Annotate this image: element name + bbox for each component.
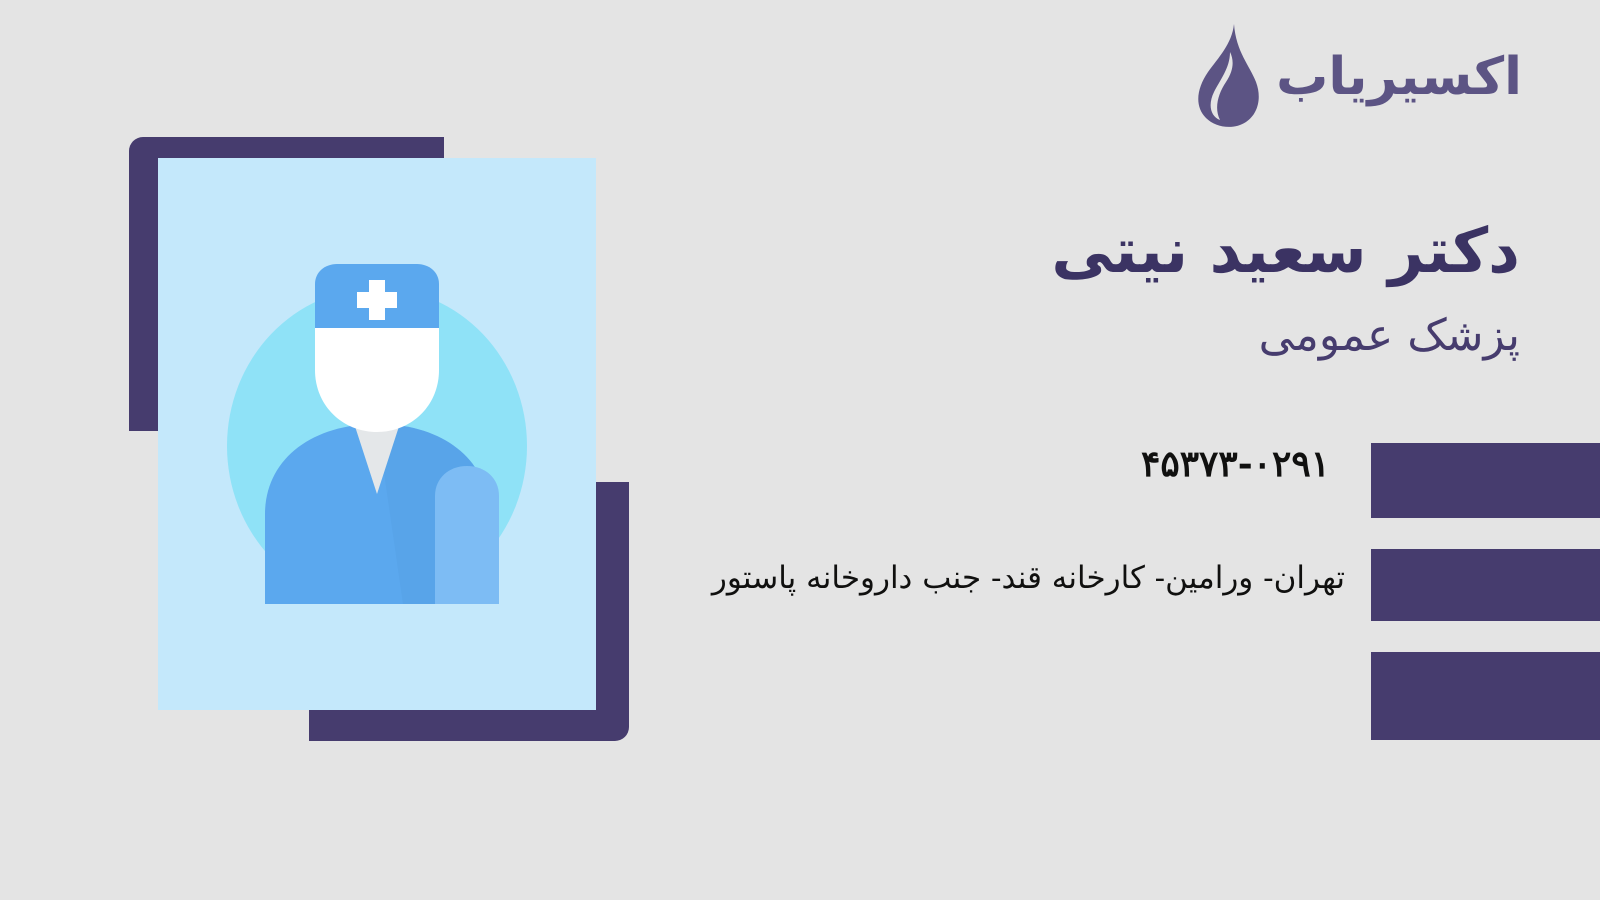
brand-name: اکسیریاب — [1276, 51, 1522, 103]
brand-logo[interactable]: اکسیریاب — [1184, 22, 1522, 132]
decorative-bar-2 — [1371, 549, 1600, 621]
doctor-illustration — [129, 137, 629, 741]
doctor-address: تهران- ورامین- کارخانه قند- جنب داروخانه… — [712, 560, 1345, 596]
business-card-canvas: اکسیریاب — [0, 0, 1600, 900]
illustration-card — [158, 158, 596, 710]
decorative-bar-3 — [1371, 652, 1600, 740]
doctor-info: دکتر سعید نیتی پزشک عمومی — [700, 215, 1520, 363]
doctor-specialty: پزشک عمومی — [700, 310, 1520, 363]
doctor-name: دکتر سعید نیتی — [700, 215, 1520, 286]
decorative-bar-1 — [1371, 443, 1600, 518]
flame-droplet-icon — [1184, 22, 1262, 132]
doctor-avatar — [227, 264, 527, 604]
doctor-phone[interactable]: ۴۵۳۷۳-۰۲۹۱ — [1141, 443, 1330, 485]
